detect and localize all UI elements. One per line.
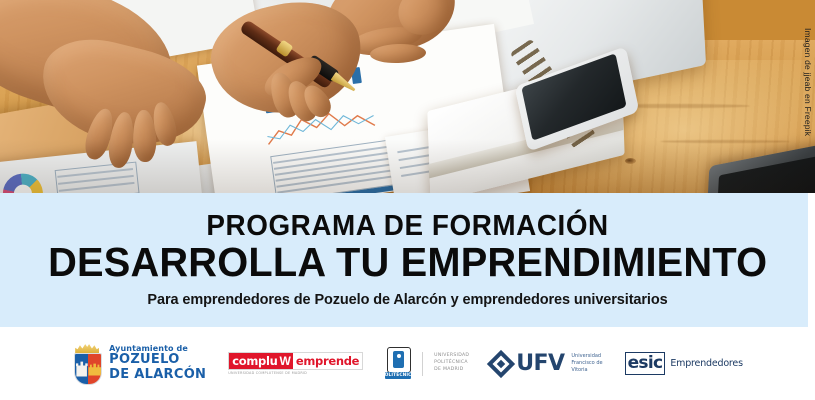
complu-text: complu [229, 353, 279, 369]
esic-wordmark: esic [628, 355, 663, 372]
upm-seal-dot [397, 354, 401, 358]
ufv-wordmark: UFV [516, 353, 564, 375]
image-attribution-text: Imagen de jjeab en Freepik [803, 28, 813, 136]
compluemprende-tagline: UNIVERSIDAD COMPLUTENSE DE MADRID [228, 371, 307, 375]
donut-chart [1, 172, 45, 193]
upm-seal-icon: POLITÉCNICA [385, 347, 411, 380]
upm-wordmark: UNIVERSIDAD POLITÉCNICA DE MADRID [434, 353, 469, 374]
pozuelo-line-2: POZUELO [109, 353, 206, 368]
page-title: DESARROLLA TU EMPRENDIMIENTO [48, 242, 767, 284]
shield-body [74, 353, 102, 385]
logo-esic-emprendedores[interactable]: esic Emprendedores [625, 352, 743, 375]
esic-subtitle: Emprendedores [670, 358, 742, 369]
logo-upm-politecnica[interactable]: POLITÉCNICA UNIVERSIDAD POLITÉCNICA DE M… [385, 347, 469, 380]
upm-seal-frame [387, 347, 411, 373]
hero-photo: Imagen de jjeab en Freepik [0, 0, 815, 193]
logo-ayuntamiento-pozuelo[interactable]: Ayuntamiento de POZUELO DE ALARCÓN [72, 344, 206, 384]
castle-icon [88, 363, 101, 376]
partner-logo-strip: Ayuntamiento de POZUELO DE ALARCÓN compl… [0, 327, 815, 400]
complu-w-mark: W [280, 353, 293, 369]
pozuelo-wordmark: Ayuntamiento de POZUELO DE ALARCÓN [109, 345, 206, 383]
upm-line-3: DE MADRID [434, 367, 469, 374]
emprende-text: emprende [293, 353, 362, 369]
ufv-diamond-icon [487, 349, 515, 377]
program-kicker: PROGRAMA DE FORMACIÓN [206, 211, 608, 241]
title-block: PROGRAMA DE FORMACIÓN DESARROLLA TU EMPR… [0, 193, 815, 327]
politecnica-badge: POLITÉCNICA [385, 372, 411, 379]
logo-divider [422, 352, 423, 376]
wood-knot [625, 158, 636, 164]
ufv-line-3: Vitoria [571, 367, 602, 374]
upm-line-1: UNIVERSIDAD [434, 353, 469, 360]
page-subtitle: Para emprendedores de Pozuelo de Alarcón… [147, 293, 667, 309]
pozuelo-line-3: DE ALARCÓN [109, 368, 206, 383]
upm-line-2: POLITÉCNICA [434, 360, 469, 367]
ufv-line-1: Universidad [571, 353, 602, 360]
shield-quarter-red [88, 354, 101, 384]
pozuelo-coat-of-arms-icon [72, 344, 102, 384]
shield-quarter-blue [75, 354, 88, 384]
esic-badge: esic [625, 352, 666, 375]
ufv-subtitle: Universidad Francisco de Vitoria [571, 353, 602, 375]
logo-compluemprende[interactable]: complu W emprende UNIVERSIDAD COMPLUTENS… [228, 352, 363, 375]
tower-icon [76, 362, 88, 377]
compluemprende-wordmark: complu W emprende [228, 352, 363, 370]
promotional-banner: Imagen de jjeab en Freepik PROGRAMA DE F… [0, 0, 815, 400]
logo-ufv[interactable]: UFV Universidad Francisco de Vitoria [491, 353, 602, 375]
wood-grain-streak [660, 140, 790, 143]
ufv-line-2: Francisco de [571, 360, 602, 367]
